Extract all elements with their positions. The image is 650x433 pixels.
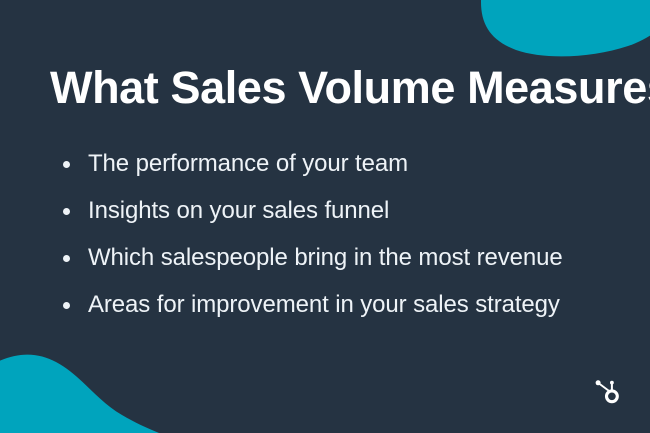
page-title: What Sales Volume Measures [50,62,620,114]
bullet-point-icon [63,208,70,215]
list-item-label: The performance of your team [88,142,634,186]
sprocket-arm [599,384,609,392]
hubspot-sprocket-logo [592,377,622,407]
bullet-point-icon [63,302,70,309]
bullet-point-icon [63,161,70,168]
sprocket-top-nub [610,381,614,385]
teal-blob-top-right-shape [481,0,650,56]
bullet-point-icon [63,255,70,262]
list-item-label: Areas for improvement in your sales stra… [88,283,634,327]
slide-canvas: What Sales Volume Measures The performan… [0,0,650,433]
list-item-label: Which salespeople bring in the most reve… [88,236,634,280]
list-item: The performance of your team [62,142,634,186]
sprocket-ring [607,391,618,402]
list-item-label: Insights on your sales funnel [88,189,634,233]
sprocket-node-dot [596,380,601,385]
bullet-list: The performance of your team Insights on… [62,142,634,330]
list-item: Areas for improvement in your sales stra… [62,283,634,327]
list-item: Insights on your sales funnel [62,189,634,233]
list-item: Which salespeople bring in the most reve… [62,236,634,280]
teal-blob-bottom-left-shape [0,355,168,433]
